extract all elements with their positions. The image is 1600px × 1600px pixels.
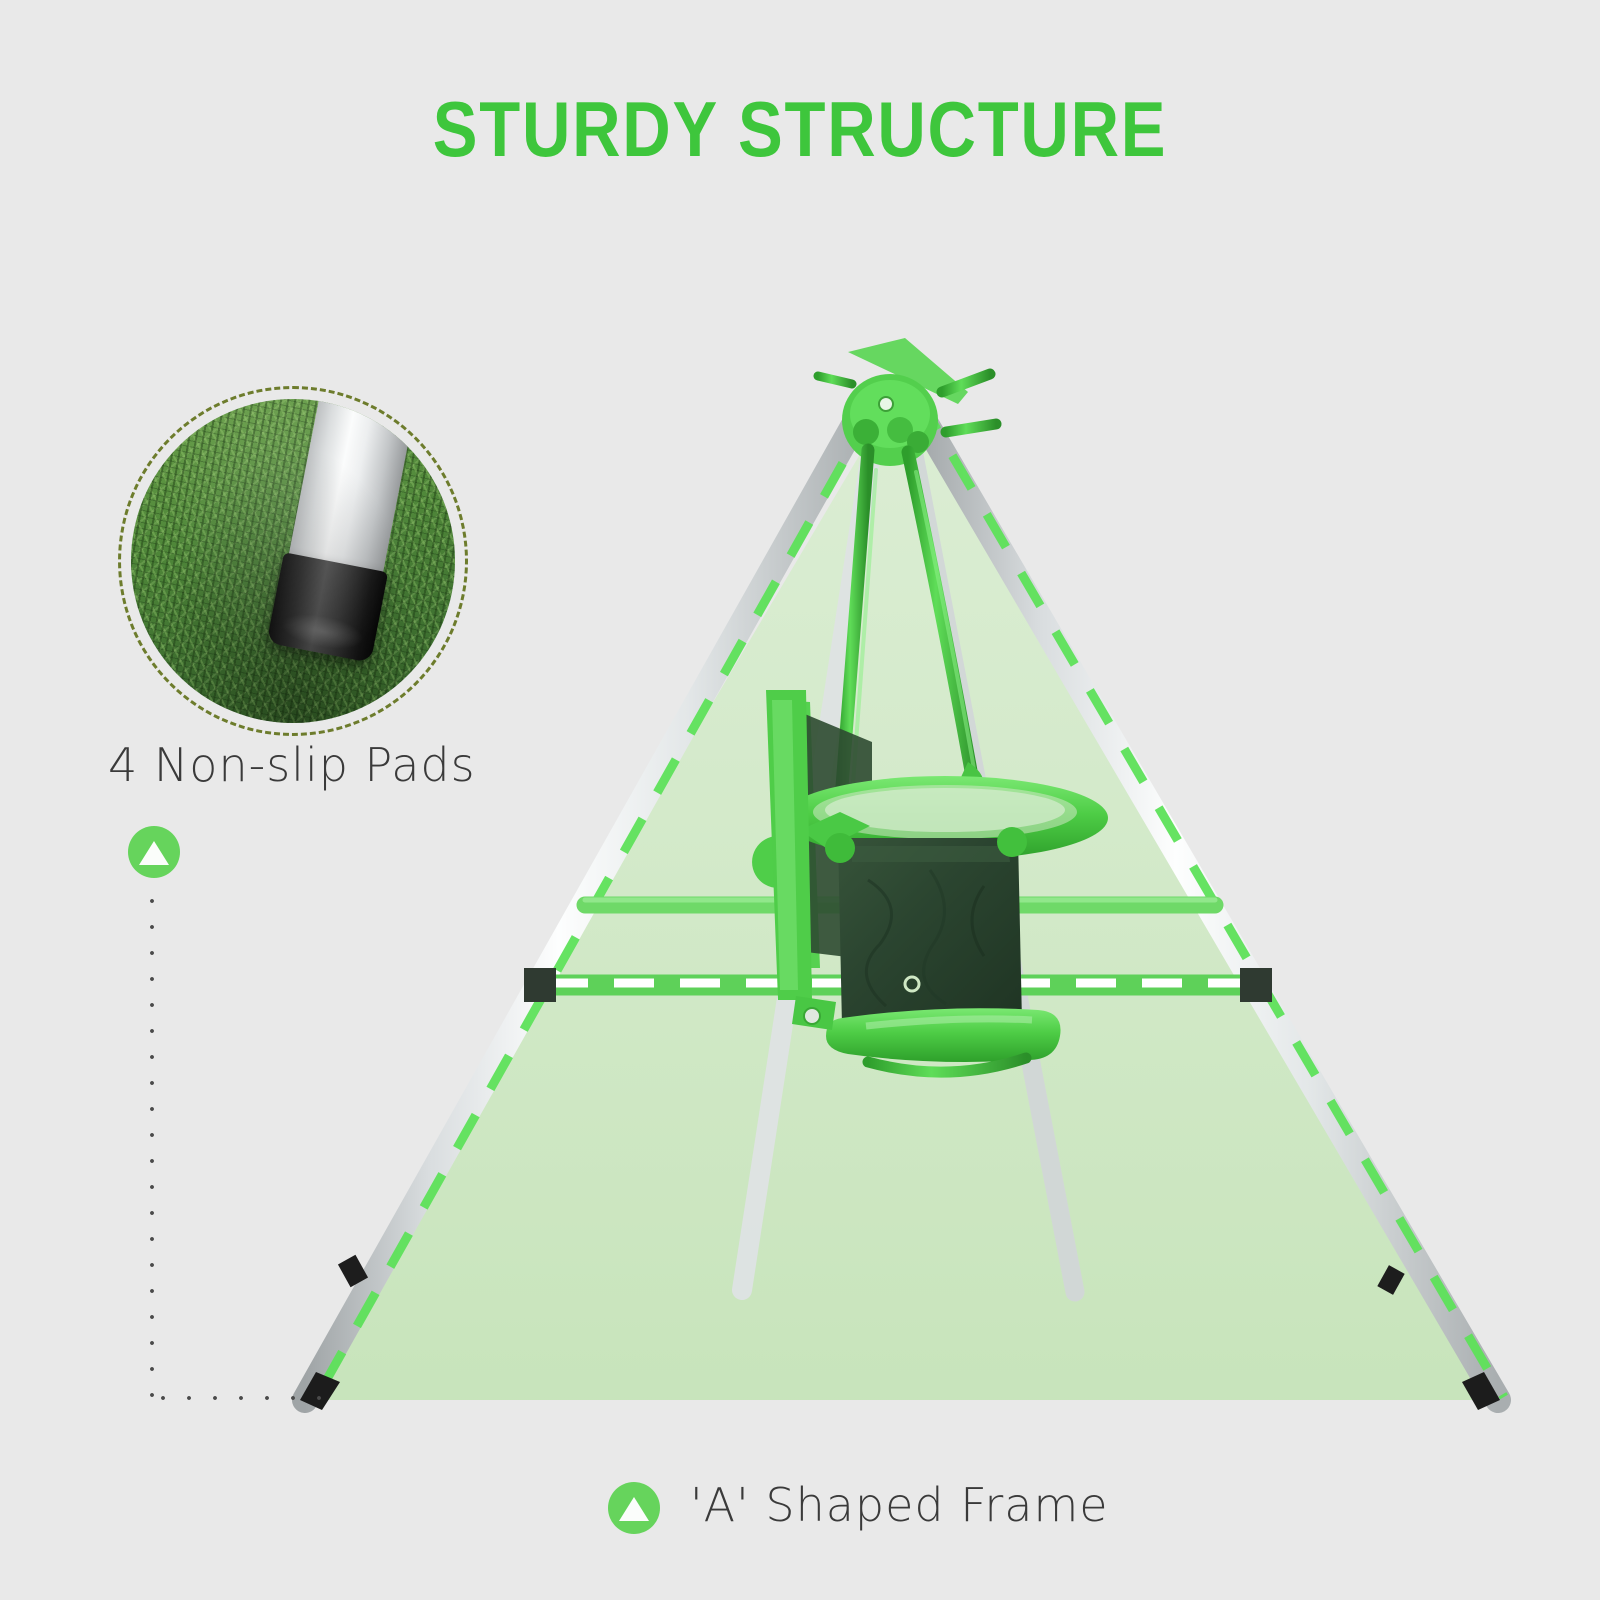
seat-rope-knot-right — [997, 827, 1027, 857]
crossbar-bracket-right — [1240, 968, 1272, 1002]
crossbar-bracket-left — [524, 968, 556, 1002]
product-illustration — [0, 0, 1600, 1600]
fabric-seat — [825, 827, 1027, 1026]
pivot-bolt-lower — [804, 1008, 820, 1024]
rope-end-lower — [946, 424, 996, 432]
non-slip-pads-label: 4 Non-slip Pads — [108, 738, 578, 792]
leader-line-horizontal — [150, 1396, 330, 1400]
leader-line-vertical — [150, 888, 154, 1400]
non-slip-pad-inset — [118, 386, 468, 736]
triangle-up-icon-frame — [608, 1482, 660, 1534]
a-shaped-frame-label: 'A' Shaped Frame — [690, 1478, 1109, 1532]
seat-rope-knot-left — [825, 833, 855, 863]
triangle-up-icon-pads — [128, 826, 180, 878]
marketing-image-canvas: STURDY STRUCTURE — [0, 0, 1600, 1600]
dashed-circle-border — [118, 386, 468, 736]
